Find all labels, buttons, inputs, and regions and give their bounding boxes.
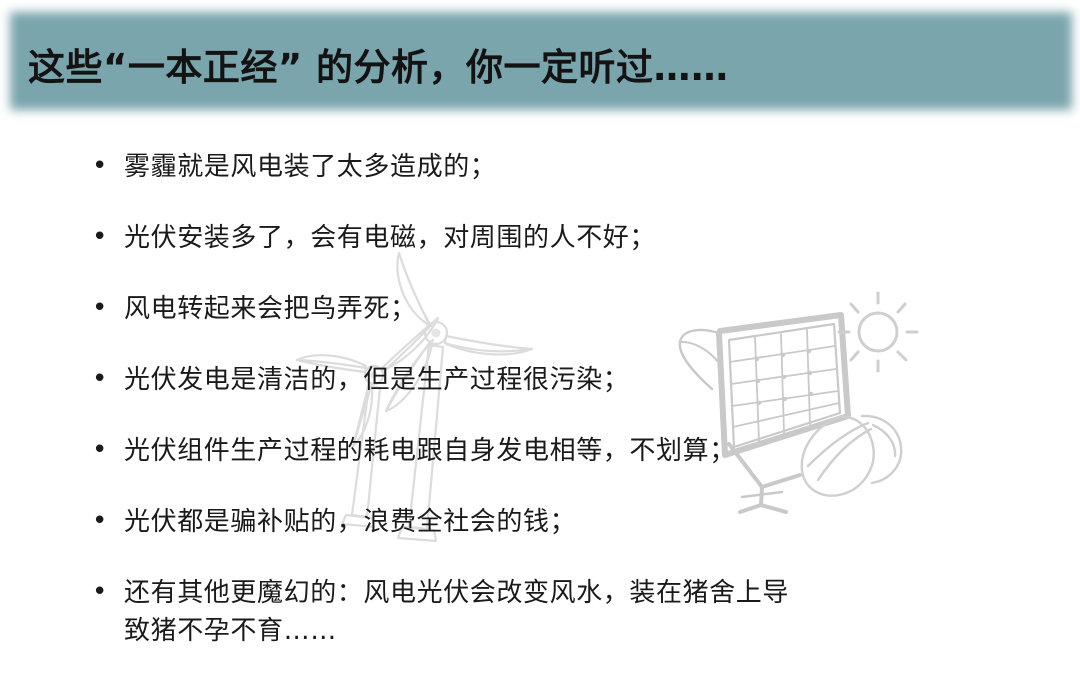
list-item: • 光伏发电是清洁的，但是生产过程很污染； xyxy=(92,361,1022,399)
bullet-marker: • xyxy=(92,148,124,183)
list-item-text: 光伏组件生产过程的耗电跟自身发电相等，不划算； xyxy=(124,432,824,470)
bullet-marker: • xyxy=(92,290,124,325)
list-item: • 光伏安装多了，会有电磁，对周围的人不好； xyxy=(92,219,1022,257)
bullet-marker: • xyxy=(92,361,124,396)
list-item: • 还有其他更魔幻的：风电光伏会改变风水，装在猪舍上导 致猪不孕不育…… xyxy=(92,574,1022,650)
list-item: • 光伏都是骗补贴的，浪费全社会的钱； xyxy=(92,503,1022,541)
list-item: • 风电转起来会把鸟弄死； xyxy=(92,290,1022,328)
list-item-text: 还有其他更魔幻的：风电光伏会改变风水，装在猪舍上导 致猪不孕不育…… xyxy=(124,574,836,650)
list-item-text: 光伏安装多了，会有电磁，对周围的人不好； xyxy=(124,219,824,257)
bullet-marker: • xyxy=(92,219,124,254)
list-item: • 雾霾就是风电装了太多造成的； xyxy=(92,148,1022,186)
list-item-text: 风电转起来会把鸟弄死； xyxy=(124,290,824,328)
list-item-text: 光伏发电是清洁的，但是生产过程很污染； xyxy=(124,361,824,399)
list-item: • 光伏组件生产过程的耗电跟自身发电相等，不划算； xyxy=(92,432,1022,470)
list-item-text: 光伏都是骗补贴的，浪费全社会的钱； xyxy=(124,503,824,541)
bullet-marker: • xyxy=(92,574,124,609)
slide-title: 这些“一本正经” 的分析，你一定听过…… xyxy=(28,36,1028,92)
bullet-marker: • xyxy=(92,432,124,467)
bullet-marker: • xyxy=(92,503,124,538)
list-item-text: 雾霾就是风电装了太多造成的； xyxy=(124,148,824,186)
presentation-slide: 这些“一本正经” 的分析，你一定听过…… xyxy=(0,0,1080,682)
bullet-list: • 雾霾就是风电装了太多造成的； • 光伏安装多了，会有电磁，对周围的人不好； … xyxy=(92,148,1022,682)
